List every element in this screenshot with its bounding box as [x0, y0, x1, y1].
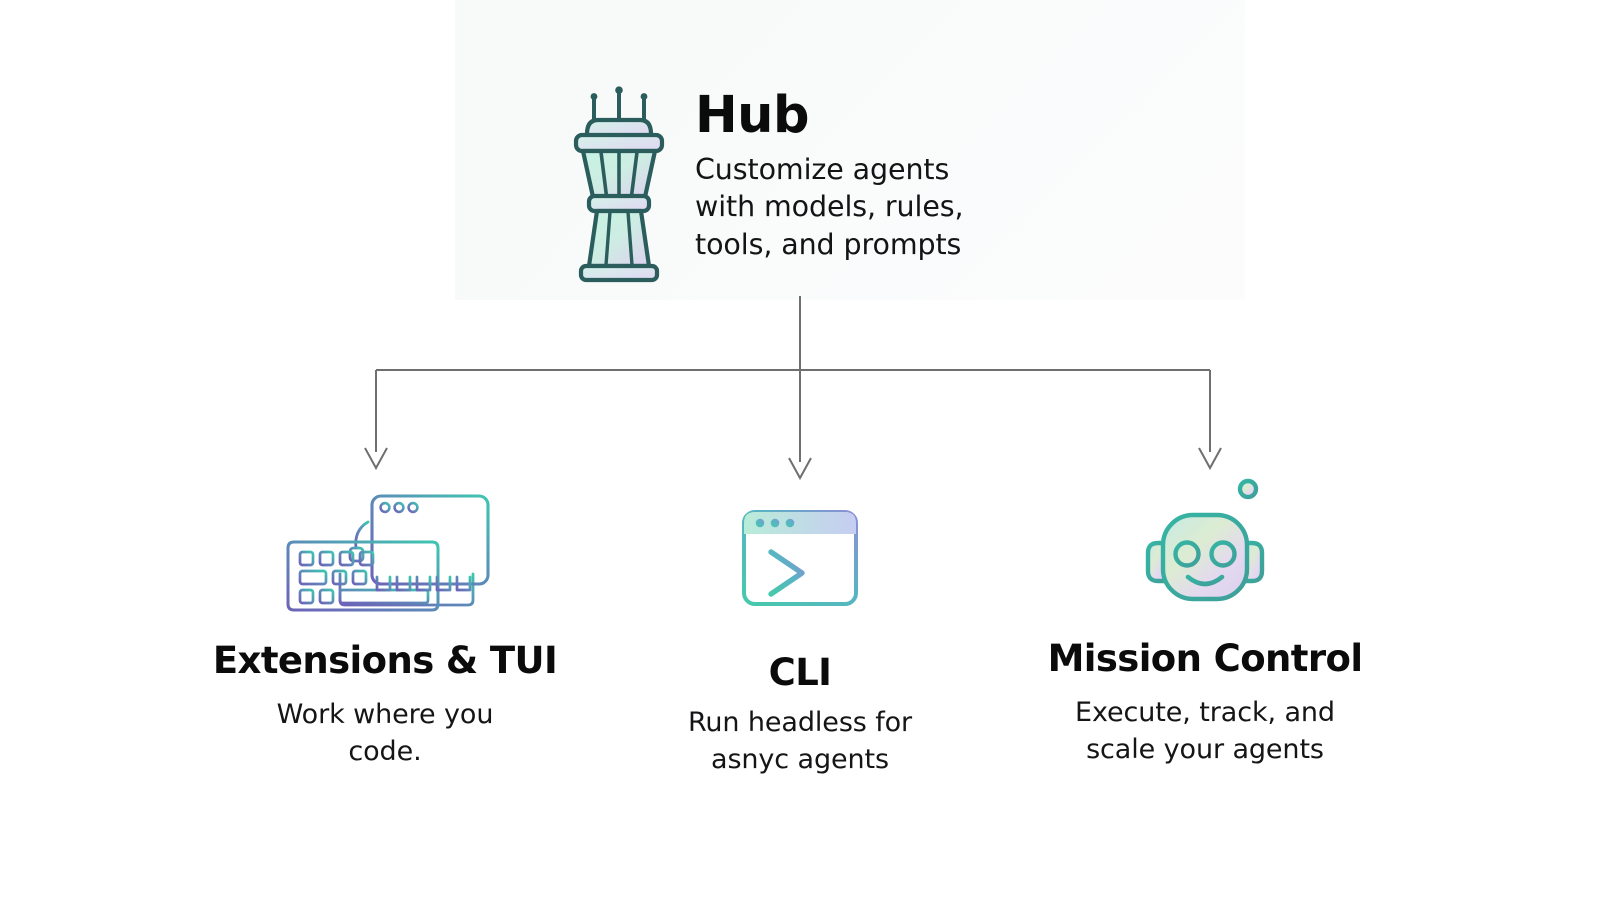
- hub-node: Hub Customize agents with models, rules,…: [565, 86, 963, 286]
- branch-mission-control: Mission Control Execute, track, and scal…: [980, 474, 1430, 768]
- code-window-keyboard-mouse-icon: [280, 486, 490, 614]
- branch-description-cli: Run headless for asnyc agents: [610, 705, 990, 778]
- hub-text-block: Hub Customize agents with models, rules,…: [695, 86, 963, 263]
- hub-title: Hub: [695, 90, 963, 141]
- branch-icon-wrap: [140, 482, 630, 618]
- branch-icon-wrap: [980, 474, 1430, 610]
- branch-extensions-tui: Extensions & TUI Work where you code.: [140, 482, 630, 770]
- branch-description-mission-control: Execute, track, and scale your agents: [980, 695, 1430, 768]
- arrow-head-center: [789, 458, 811, 478]
- control-tower-icon: [565, 86, 673, 286]
- diagram-canvas: Hub Customize agents with models, rules,…: [0, 0, 1600, 900]
- branch-title-cli: CLI: [610, 654, 990, 691]
- arrow-head-right: [1199, 448, 1221, 468]
- arrow-head-left: [365, 448, 387, 468]
- branch-icon-wrap: [610, 490, 990, 626]
- branch-title-extensions: Extensions & TUI: [140, 642, 630, 679]
- terminal-window-icon: [738, 504, 862, 612]
- hub-description: Customize agents with models, rules, too…: [695, 151, 963, 263]
- branch-cli: CLI Run headless for asnyc agents: [610, 490, 990, 778]
- robot-head-icon: [1130, 473, 1280, 611]
- branch-description-extensions: Work where you code.: [140, 697, 630, 770]
- branch-title-mission-control: Mission Control: [980, 640, 1430, 677]
